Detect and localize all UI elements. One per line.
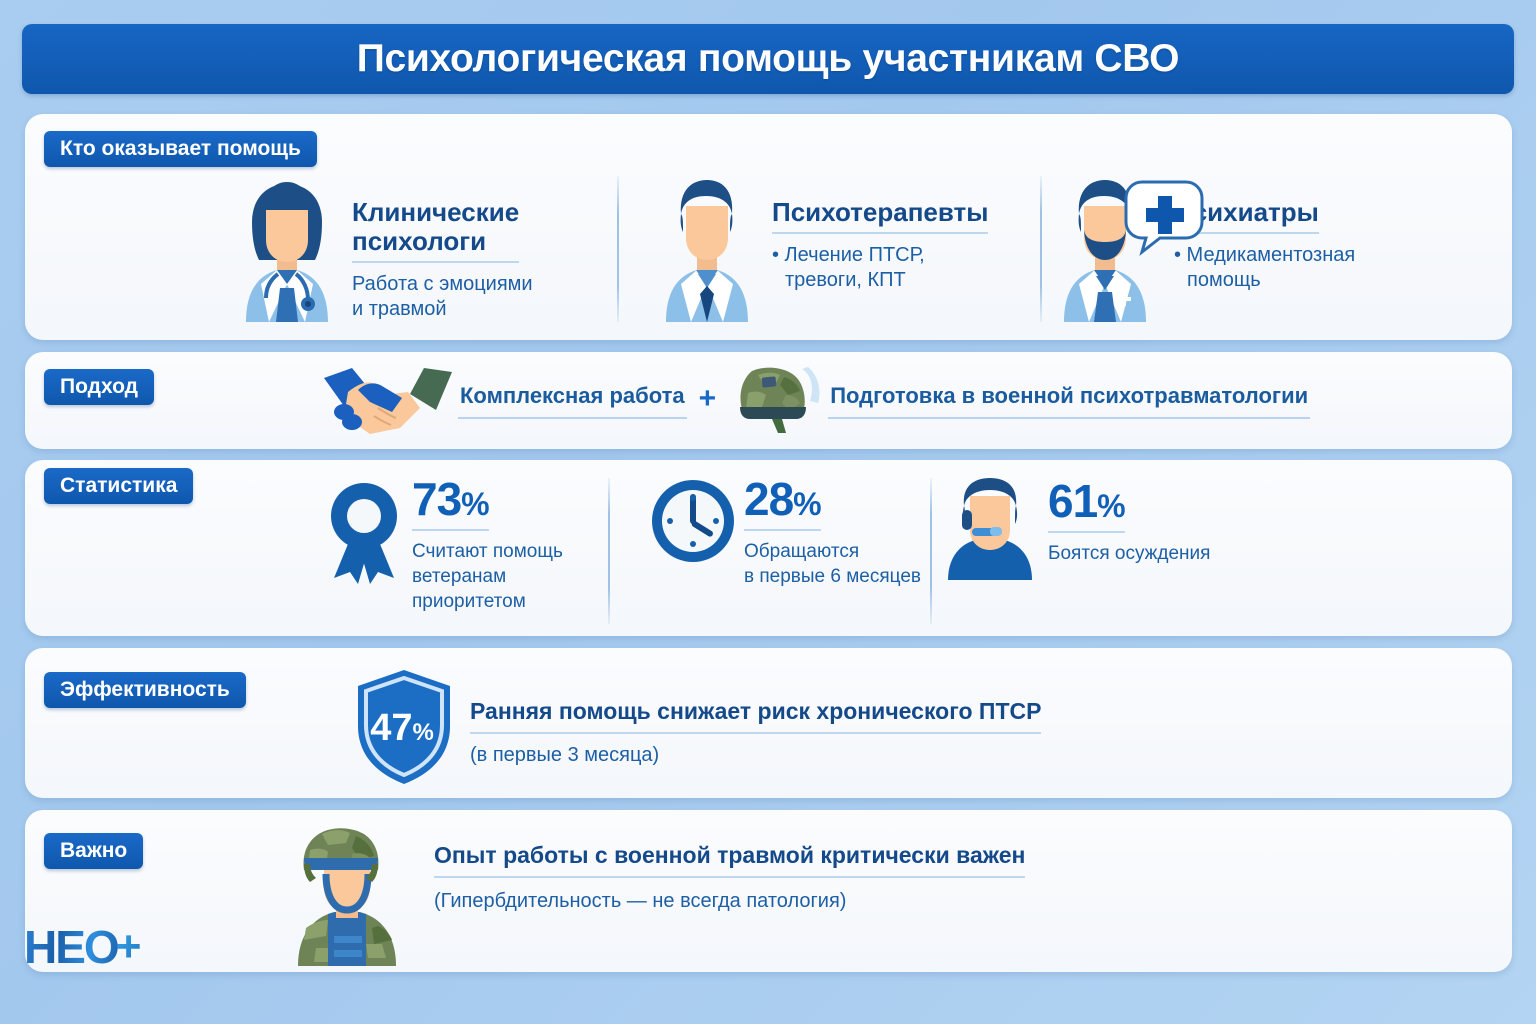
female-clinical-psychologist-icon [228,170,346,322]
effectiveness-text: Ранняя помощь снижает риск хронического … [470,668,1041,767]
section-badge-important: Важно [44,833,143,869]
award-ribbon-icon [322,476,406,591]
approach-connector: + [699,382,717,420]
section-badge-statistics: Статистика [44,468,193,504]
male-psychotherapist-icon [648,170,766,322]
effectiveness-note: (в первые 3 месяца) [470,744,1041,767]
statistic-caption-2: Обращаются в первые 6 месяцев [744,539,921,589]
important-note: (Гипербдительность — не всегда патология… [434,890,1025,913]
section-badge-effectiveness: Эффективность [44,672,246,708]
statistic-caption-1: Считают помощь ветеранам приоритетом [412,539,563,614]
statistic-first-six-months: 28% Обращаются в первые 6 месяцев [648,476,921,589]
approach-label-1: Комплексная работа [458,383,687,419]
soldier-icon [282,814,412,971]
professional-detail-2: • Лечение ПТСР, тревоги, КПТ [772,243,988,293]
statistic-value-3: 61% [1048,478,1125,533]
professional-title-1: Клинические психологи [352,198,519,263]
statistic-text-1: 73% Считают помощь ветеранам приоритетом [412,476,563,614]
brand-logo-word: НЕО [24,924,118,970]
divider-stat-1 [608,478,610,624]
section-badge-approach: Подход [44,369,154,405]
effectiveness-row: 47% Ранняя помощь снижает риск хроническ… [352,668,1041,791]
statistic-text-2: 28% Обращаются в первые 6 месяцев [744,476,921,589]
page-title-banner: Психологическая помощь участникам СВО [22,24,1514,94]
effectiveness-headline: Ранняя помощь снижает риск хронического … [470,698,1041,734]
statistic-veterans-priority: 73% Считают помощь ветеранам приоритетом [322,476,563,614]
divider-stat-2 [930,478,932,624]
professional-text-2: Психотерапевты • Лечение ПТСР, тревоги, … [772,170,988,293]
brand-logo-plus-icon: + [116,925,142,969]
important-text: Опыт работы с военной травмой критически… [434,814,1025,913]
approach-row: Комплексная работа + Подготовка в военно… [318,362,1310,440]
military-helmet-icon [728,363,828,440]
brand-logo: НЕО + [24,920,141,974]
bearded-psychiatrist-icon [1046,170,1226,322]
statistic-fear-of-judgement: 61% Боятся осуждения [938,478,1210,585]
important-headline: Опыт работы с военной травмой критически… [434,842,1025,878]
statistic-value-2: 28% [744,476,821,531]
divider-who-1 [617,176,619,322]
page-title: Психологическая помощь участникам СВО [357,37,1179,81]
clock-icon [648,476,738,571]
professional-text-1: Клинические психологи Работа с эмоциями … [352,170,533,322]
professional-psychotherapists: Психотерапевты • Лечение ПТСР, тревоги, … [648,170,988,322]
professional-detail-1: Работа с эмоциями и травмой [352,272,533,322]
divider-who-2 [1040,176,1042,322]
important-row: Опыт работы с военной травмой критически… [282,814,1025,971]
statistic-value-1: 73% [412,476,489,531]
section-badge-who: Кто оказывает помощь [44,131,317,167]
professional-title-2: Психотерапевты [772,198,988,234]
professional-psychiatrists: Психиатры • Медикаментозная помощь [1046,170,1356,322]
professional-clinical-psychologists: Клинические психологи Работа с эмоциями … [228,170,533,322]
shield-icon: 47% [352,668,456,791]
handshake-icon [318,360,458,443]
statistic-text-3: 61% Боятся осуждения [1048,478,1210,566]
person-headset-icon [938,478,1042,585]
statistic-caption-3: Боятся осуждения [1048,541,1210,566]
approach-label-2: Подготовка в военной психотравматологии [828,383,1310,419]
